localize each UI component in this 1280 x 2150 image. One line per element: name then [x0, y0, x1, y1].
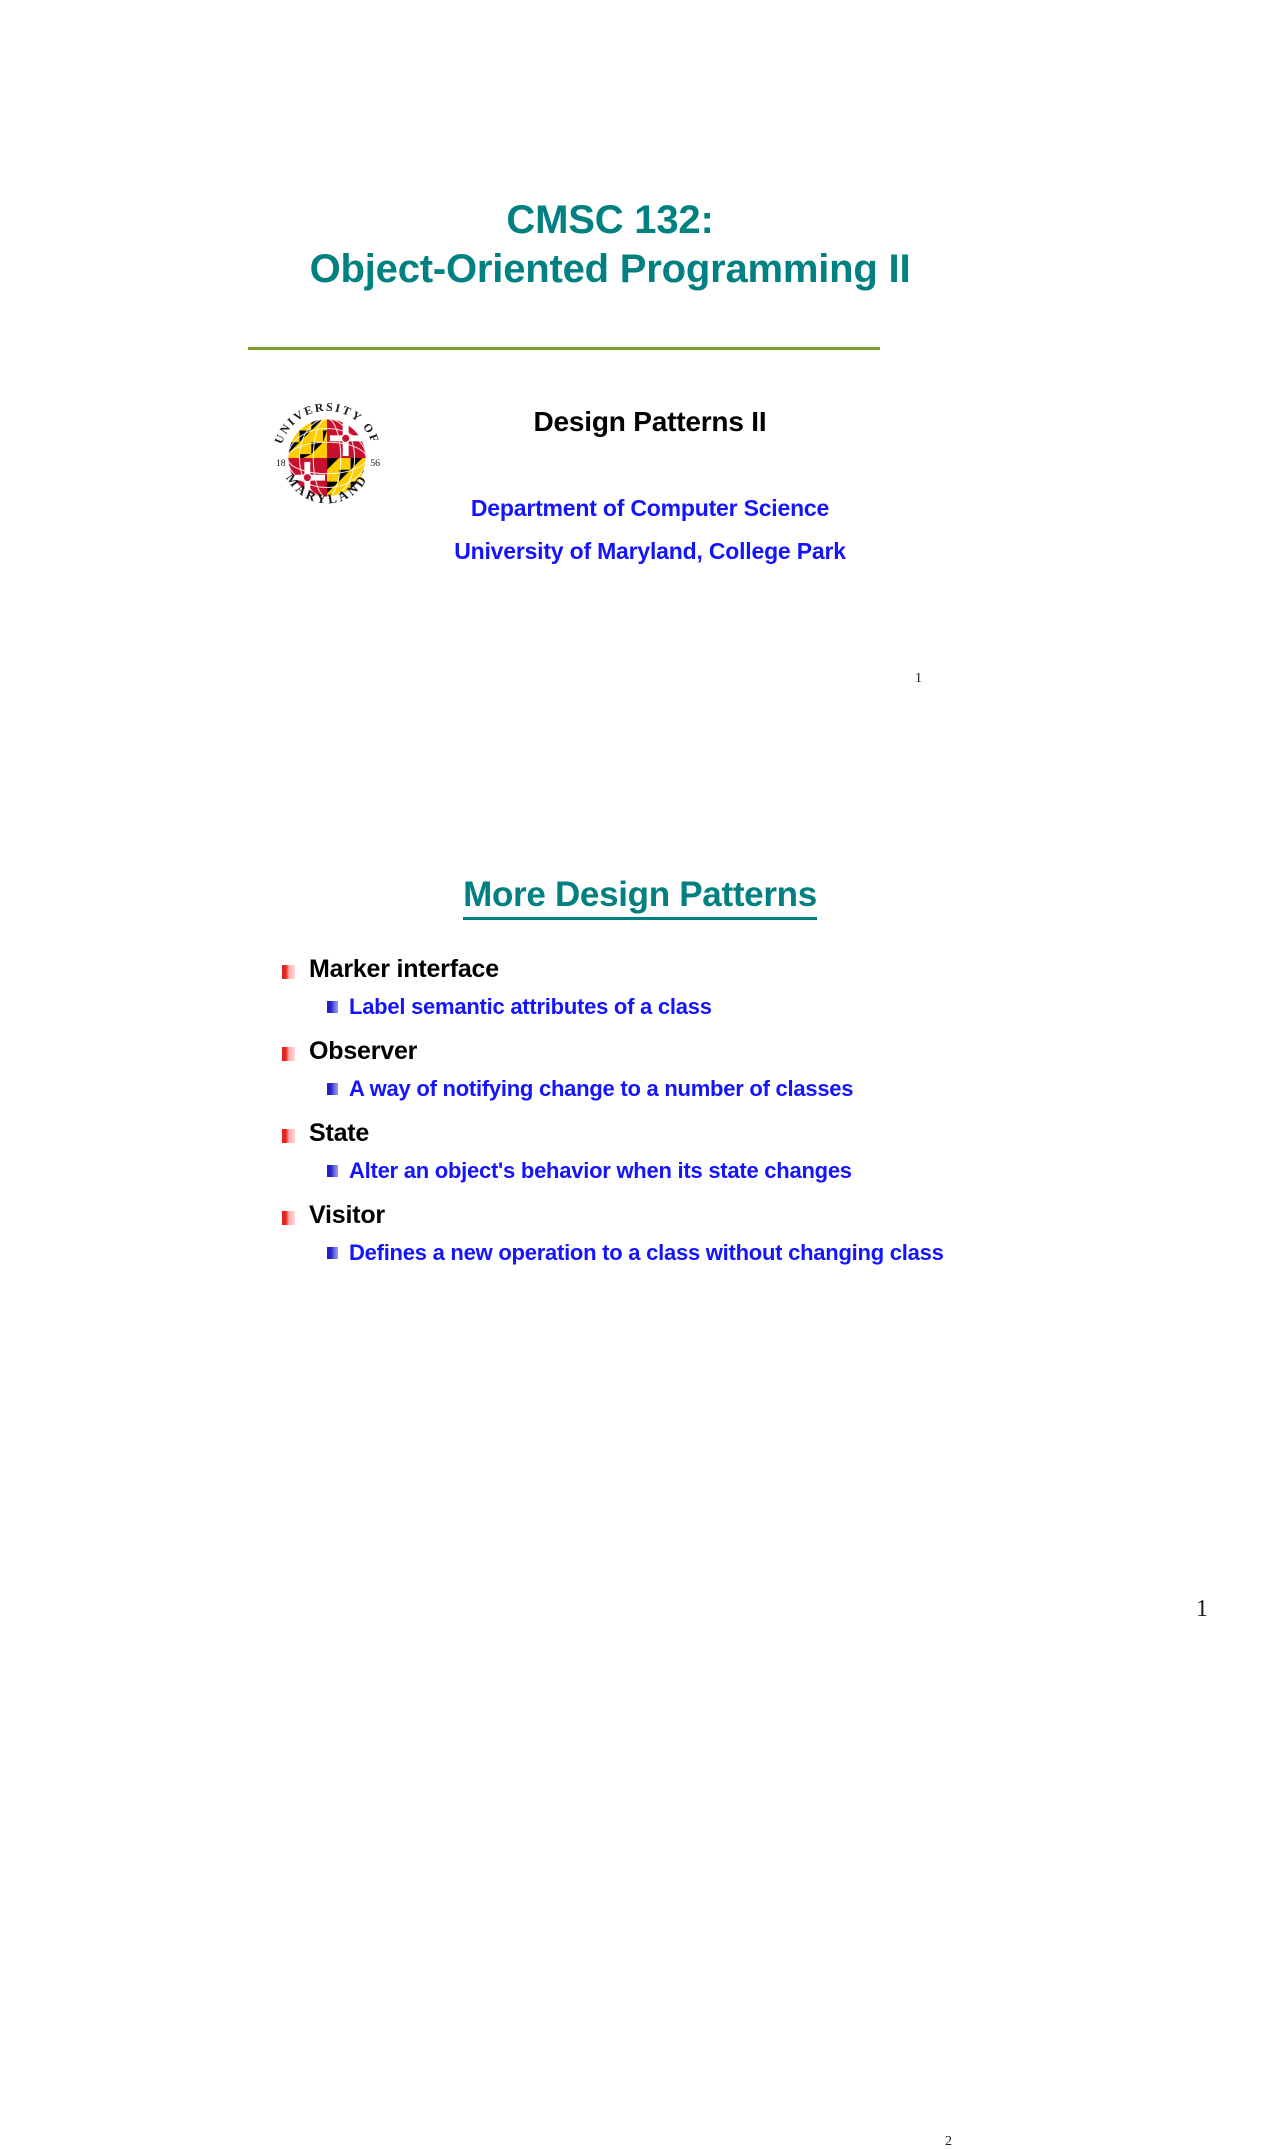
title-divider	[248, 347, 880, 350]
institution-line: University of Maryland, College Park	[370, 530, 930, 573]
list-item: Marker interface	[282, 955, 982, 983]
lecture-title: Design Patterns II	[410, 406, 890, 438]
pattern-name: Marker interface	[309, 955, 499, 983]
course-title: CMSC 132: Object-Oriented Programming II	[200, 196, 1020, 294]
list-item-sub: A way of notifying change to a number of…	[309, 1075, 982, 1103]
slide-page-number: 1	[915, 671, 922, 687]
square-subbullet-icon	[327, 1001, 338, 1013]
slide-heading-text: More Design Patterns	[463, 875, 817, 920]
department-line: Department of Computer Science	[370, 487, 930, 530]
university-of-maryland-seal-icon: UNIVERSITY OF MARYLAND 18 56	[268, 396, 386, 520]
list-item: State	[282, 1119, 982, 1147]
content-slide: More Design Patterns Marker interface La…	[0, 760, 1280, 1520]
pattern-name: Visitor	[309, 1201, 385, 1229]
affiliation-block: Department of Computer Science Universit…	[370, 487, 930, 573]
list-item: Visitor	[282, 1201, 982, 1229]
pattern-description: Defines a new operation to a class witho…	[349, 1240, 944, 1265]
svg-text:18: 18	[276, 458, 286, 469]
pattern-name: State	[309, 1119, 369, 1147]
course-name: Object-Oriented Programming II	[200, 245, 1020, 294]
title-slide: CMSC 132: Object-Oriented Programming II	[0, 0, 1280, 760]
square-subbullet-icon	[327, 1247, 338, 1259]
square-bullet-icon	[282, 1129, 295, 1143]
pattern-description: Alter an object's behavior when its stat…	[349, 1158, 852, 1183]
slide-page-number: 2	[945, 2134, 952, 2150]
square-subbullet-icon	[327, 1165, 338, 1177]
list-item-sub: Label semantic attributes of a class	[309, 993, 982, 1021]
square-bullet-icon	[282, 965, 295, 979]
list-item-sub: Defines a new operation to a class witho…	[309, 1239, 982, 1267]
course-code: CMSC 132:	[200, 196, 1020, 245]
square-bullet-icon	[282, 1211, 295, 1225]
square-subbullet-icon	[327, 1083, 338, 1095]
pattern-name: Observer	[309, 1037, 417, 1065]
slide-heading: More Design Patterns	[240, 875, 1040, 915]
list-item-sub: Alter an object's behavior when its stat…	[309, 1157, 982, 1185]
pattern-description: Label semantic attributes of a class	[349, 994, 712, 1019]
document-page-number: 1	[1196, 1596, 1208, 1623]
list-item: Observer	[282, 1037, 982, 1065]
pattern-description: A way of notifying change to a number of…	[349, 1076, 853, 1101]
square-bullet-icon	[282, 1047, 295, 1061]
svg-text:56: 56	[370, 458, 380, 469]
design-patterns-list: Marker interface Label semantic attribut…	[282, 955, 982, 1268]
